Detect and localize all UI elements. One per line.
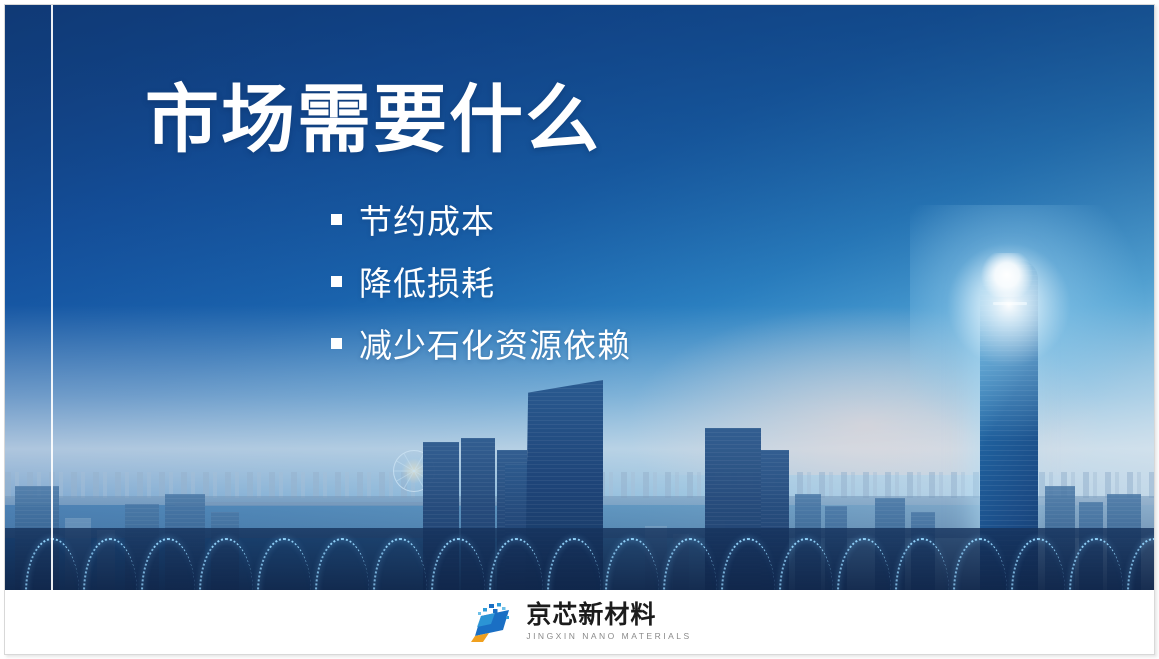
vertical-accent-line xyxy=(51,5,53,590)
slide-footer: 京芯新材料 JINGXIN NANO MATERIALS xyxy=(5,590,1155,654)
tower-light-band xyxy=(993,302,1027,305)
bullet-list: 节约成本 降低损耗 减少石化资源依赖 xyxy=(331,195,631,381)
sun-core xyxy=(980,253,1034,297)
logo-text-block: 京芯新材料 JINGXIN NANO MATERIALS xyxy=(526,603,691,641)
square-bullet-icon xyxy=(331,214,342,225)
logo-name-cn: 京芯新材料 xyxy=(526,603,691,628)
jingxin-logo-icon xyxy=(469,602,515,642)
glowing-dot-arcs xyxy=(5,510,1155,590)
hero-background-image: 市场需要什么 节约成本 降低损耗 减少石化资源依赖 xyxy=(5,5,1155,590)
list-item: 降低损耗 xyxy=(331,257,631,305)
page-title: 市场需要什么 xyxy=(145,79,601,162)
list-item: 节约成本 xyxy=(331,195,631,243)
list-item: 减少石化资源依赖 xyxy=(331,319,631,367)
bullet-label: 节约成本 xyxy=(359,195,495,243)
bullet-label: 降低损耗 xyxy=(359,257,495,305)
square-bullet-icon xyxy=(331,276,342,287)
logo-name-en: JINGXIN NANO MATERIALS xyxy=(526,632,691,641)
square-bullet-icon xyxy=(331,338,342,349)
bullet-label: 减少石化资源依赖 xyxy=(359,319,631,367)
company-logo: 京芯新材料 JINGXIN NANO MATERIALS xyxy=(469,602,691,642)
slide-frame: 市场需要什么 节约成本 降低损耗 减少石化资源依赖 xyxy=(4,4,1155,655)
